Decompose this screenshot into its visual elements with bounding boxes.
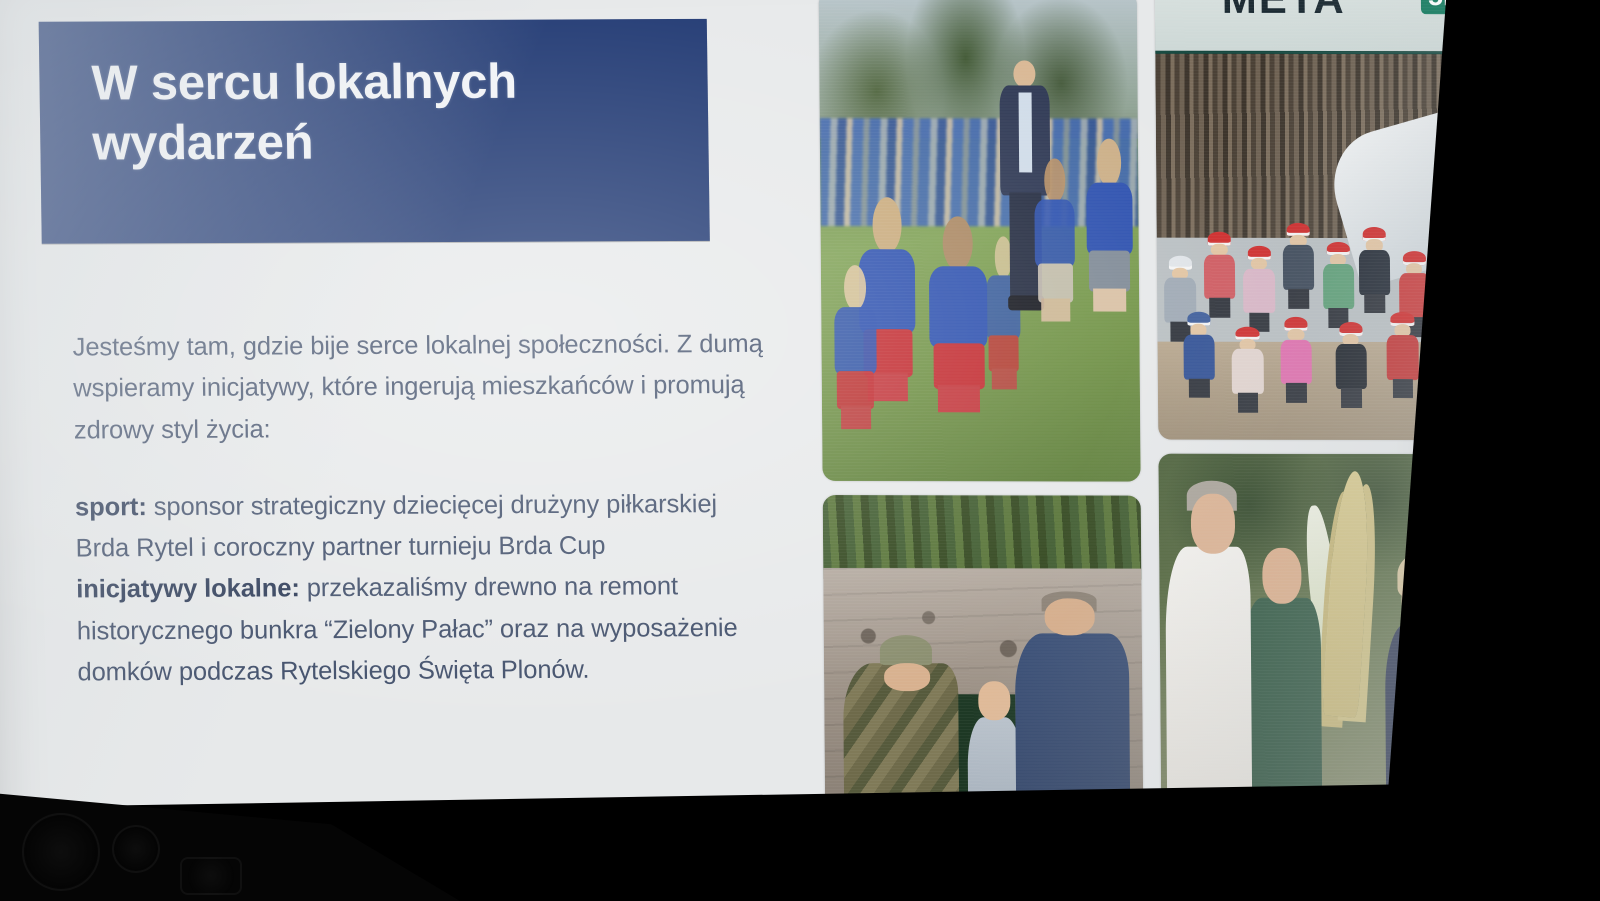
bullet-sport-lead-in: sport: (75, 493, 147, 521)
body-copy: Jesteśmy tam, gdzie bije serce lokalnej … (72, 324, 778, 694)
crowd-figure (1242, 246, 1277, 332)
title-banner: W sercu lokalnych wydarzeń (39, 19, 710, 244)
page-title: W sercu lokalnych wydarzeń (91, 51, 693, 174)
crowd-figure (1357, 227, 1392, 313)
race-banner-meta-text: META (1222, 0, 1346, 23)
speaker-shape (112, 825, 160, 873)
bullet-sport: sport: sponsor strategiczny dziecięcej d… (75, 484, 776, 570)
speaker-shape (22, 813, 100, 891)
player-figure (1086, 139, 1133, 309)
bullet-local-initiatives-lead-in: inicjatywy lokalne: (76, 575, 300, 604)
photo-collage: ADVENTURE META 5k (818, 0, 1465, 878)
speaker-shape (180, 857, 242, 895)
crowd-figure (1182, 312, 1217, 398)
bullet-sport-text: sponsor strategiczny dziecięcej drużyny … (75, 490, 717, 563)
slide-surface: W sercu lokalnych wydarzeń Jesteśmy tam,… (0, 0, 1469, 901)
player-figure (929, 217, 989, 409)
race-finish-banner: ADVENTURE META 5k (1154, 0, 1459, 55)
photo-santa-hat-forest-run: ADVENTURE META 5k (1154, 0, 1462, 440)
paragraph-spacer (74, 448, 775, 488)
crowd-figure (1230, 326, 1265, 412)
crowd-figure (1334, 322, 1369, 408)
crowd-figure (1202, 232, 1237, 318)
crowd-figure (1321, 242, 1356, 328)
crowd-figure (1385, 312, 1420, 398)
crowd-figure (1279, 317, 1314, 403)
intro-paragraph: Jesteśmy tam, gdzie bije serce lokalnej … (72, 324, 774, 452)
projected-slide-photo: W sercu lokalnych wydarzeń Jesteśmy tam,… (0, 0, 1600, 901)
bullet-local-initiatives: inicjatywy lokalne: przekazaliśmy drewno… (76, 566, 778, 694)
player-figure (1034, 158, 1075, 318)
player-figure (834, 265, 877, 425)
crowd-figure (1281, 223, 1316, 309)
photo-youth-football-team (819, 0, 1141, 482)
